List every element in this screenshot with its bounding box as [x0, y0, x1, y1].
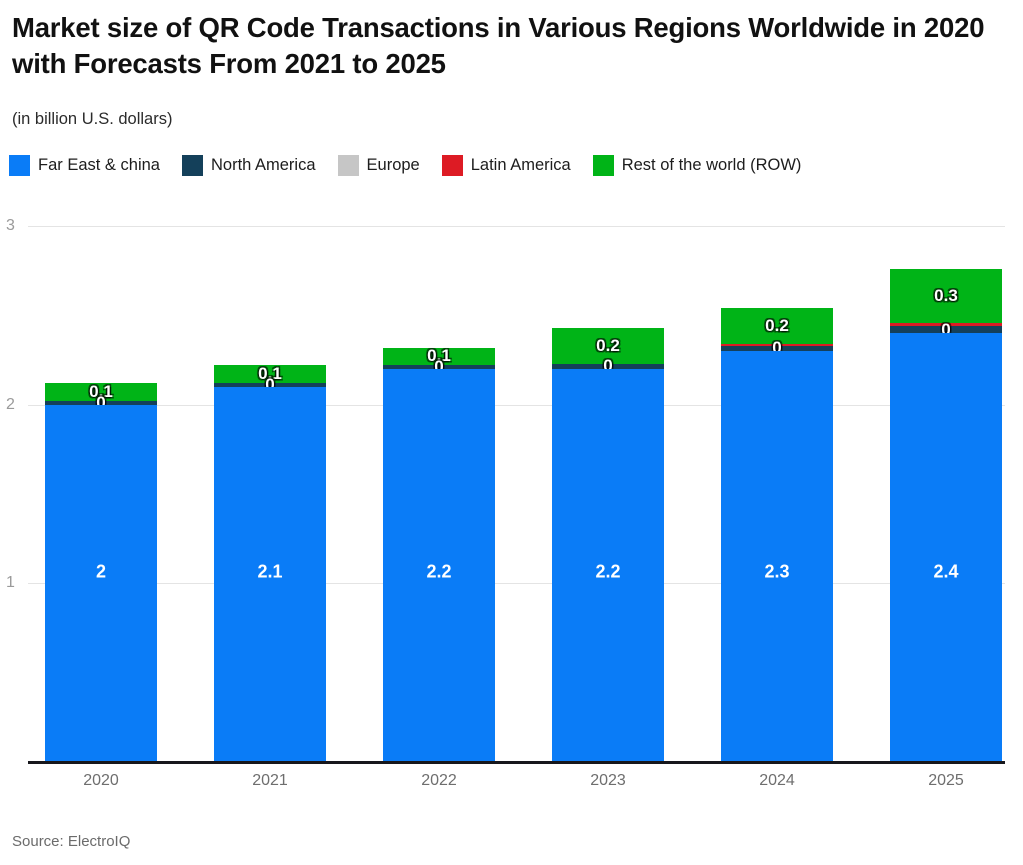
bar-column[interactable]: 0.202.2	[552, 328, 664, 761]
bar-segment-value-label: 2	[96, 561, 106, 582]
bar-segment[interactable]: 2	[45, 405, 157, 761]
y-axis-tick-label: 2	[6, 396, 24, 414]
y-axis-tick-label: 1	[6, 574, 24, 592]
gridline	[28, 226, 1005, 227]
bar-segment-value-label: 2.2	[595, 561, 620, 582]
bar-column[interactable]: 0.202.3	[721, 308, 833, 761]
bar-segment[interactable]: 0.2	[552, 328, 664, 364]
chart-plot-area: 1230.10220200.102.120210.102.220220.202.…	[0, 0, 1023, 865]
y-axis-tick-label: 3	[6, 217, 24, 235]
bar-segment-value-label: 0.1	[258, 364, 282, 384]
bar-segment-value-label: 0.3	[934, 286, 958, 306]
x-axis-tick-label: 2020	[83, 772, 119, 790]
bar-segment[interactable]: 0.3	[890, 269, 1002, 322]
bar-segment-value-label: 2.2	[426, 561, 451, 582]
bar-column[interactable]: 0.102	[45, 383, 157, 761]
bar-segment[interactable]: 0.2	[721, 308, 833, 344]
bar-segment[interactable]: 0	[890, 326, 1002, 333]
bar-segment-value-label: 0.2	[596, 336, 620, 356]
chart-page: Market size of QR Code Transactions in V…	[0, 0, 1023, 865]
x-axis-tick-label: 2024	[759, 772, 795, 790]
bar-segment[interactable]: 0.1	[383, 348, 495, 366]
bar-column[interactable]: 0.302.4	[890, 269, 1002, 761]
gridline	[28, 583, 1005, 584]
bar-segment-value-label: 0.2	[765, 316, 789, 336]
bar-segment[interactable]: 0.1	[45, 383, 157, 401]
bar-segment-value-label: 0.1	[89, 382, 113, 402]
bar-segment[interactable]: 2.3	[721, 351, 833, 761]
bar-column[interactable]: 0.102.1	[214, 365, 326, 761]
bar-segment-value-label: 0.1	[427, 346, 451, 366]
bar-segment[interactable]: 2.2	[383, 369, 495, 761]
source-note: Source: ElectroIQ	[12, 833, 130, 850]
bar-segment-value-label: 2.4	[933, 561, 958, 582]
gridline	[28, 405, 1005, 406]
bar-segment-value-label: 2.1	[257, 561, 282, 582]
bar-segment[interactable]: 0.1	[214, 365, 326, 383]
bar-segment[interactable]: 2.2	[552, 369, 664, 761]
bar-segment[interactable]: 2.1	[214, 387, 326, 761]
x-axis-tick-label: 2025	[928, 772, 964, 790]
bar-segment-value-label: 2.3	[764, 561, 789, 582]
bar-column[interactable]: 0.102.2	[383, 348, 495, 761]
x-axis-tick-label: 2022	[421, 772, 457, 790]
x-axis-tick-label: 2021	[252, 772, 288, 790]
x-axis-line	[28, 761, 1005, 764]
x-axis-tick-label: 2023	[590, 772, 626, 790]
bar-segment[interactable]: 2.4	[890, 333, 1002, 761]
